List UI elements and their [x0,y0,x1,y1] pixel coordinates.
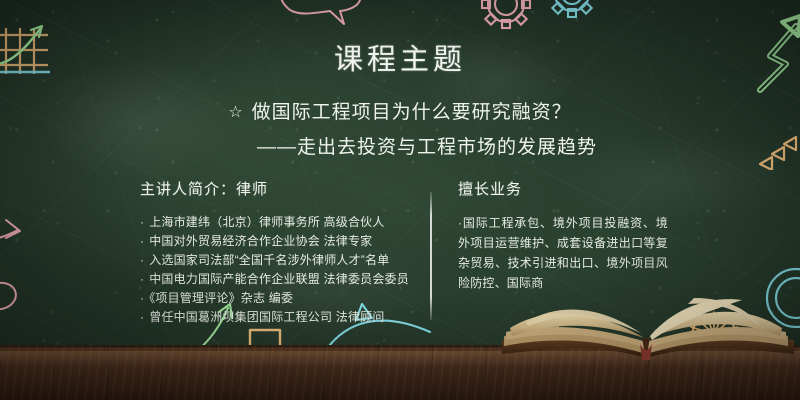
bullet-marker: · [140,215,144,229]
list-item: ·入选国家司法部“全国千名涉外律师人才”名单 [140,251,420,270]
page-title: 课程主题 [0,46,800,75]
list-item-text: 中国对外贸易经济合作企业协会 法律专家 [149,234,372,248]
slide-canvas: 课程主题 ☆做国际工程项目为什么要研究融资？ ——走出去投资与工程市场的发展趋势… [0,0,800,400]
subtitle-block: ☆做国际工程项目为什么要研究融资？ ——走出去投资与工程市场的发展趋势 [0,100,800,160]
list-item-text: 曾任中国葛洲坝集团国际工程公司 法律顾问 [149,310,384,324]
expertise-body: ·国际工程承包、境外项目投融资、境外项目运营维护、成套设备进出口等复杂贸易、技术… [458,213,668,293]
bullet-marker: · [140,272,144,286]
list-item: ·曾任中国葛洲坝集团国际工程公司 法律顾问 [140,308,420,327]
star-icon: ☆ [228,104,243,121]
arrow-doodle [0,218,40,252]
speaker-bio-column: 主讲人简介：律师 ·上海市建纬（北京）律师事务所 高级合伙人 ·中国对外贸易经济… [140,178,420,327]
list-item-text: 上海市建纬（北京）律师事务所 高级合伙人 [149,215,384,229]
bullet-marker: · [140,310,144,324]
gear-icon [534,0,610,26]
speaker-bio-heading: 主讲人简介：律师 [140,178,420,199]
column-divider [430,192,432,320]
list-item: ·中国电力国际产能合作企业联盟 法律委员会委员 [140,270,420,289]
bullet-marker: · [140,253,144,267]
open-book-illustration [498,292,798,362]
list-item: ·上海市建纬（北京）律师事务所 高级合伙人 [140,213,420,232]
subtitle-line-1-text: 做国际工程项目为什么要研究融资？ [252,102,572,123]
bullet-marker: · [140,234,144,248]
subtitle-line-1: ☆做国际工程项目为什么要研究融资？ [0,100,800,126]
list-item: ·中国对外贸易经济合作企业协会 法律专家 [140,232,420,251]
speech-bubble-doodle [270,0,390,32]
expertise-column: 擅长业务 ·国际工程承包、境外项目投融资、境外项目运营维护、成套设备进出口等复杂… [458,178,668,293]
gear-icon [466,0,546,40]
bullet-marker: · [140,291,144,305]
expertise-heading: 擅长业务 [458,178,668,199]
oval-doodle [0,278,28,314]
list-item-text: 中国电力国际产能合作企业联盟 法律委员会委员 [149,272,409,286]
list-item: ·《项目管理评论》杂志 编委 [140,289,420,308]
subtitle-line-2: ——走出去投资与工程市场的发展趋势 [0,135,800,161]
list-item-text: 入选国家司法部“全国千名涉外律师人才”名单 [149,253,389,267]
list-item-text: 《项目管理评论》杂志 编委 [149,291,293,305]
speaker-bio-list: ·上海市建纬（北京）律师事务所 高级合伙人 ·中国对外贸易经济合作企业协会 法律… [140,213,420,327]
